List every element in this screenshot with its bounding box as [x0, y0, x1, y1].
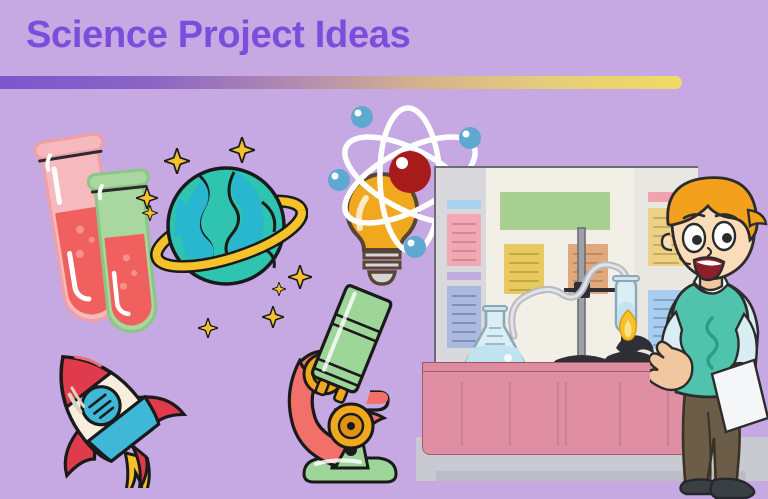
page-title: Science Project Ideas	[26, 14, 410, 57]
rocket-icon	[18, 336, 194, 488]
microscope-icon	[272, 278, 428, 499]
accent-gradient-bar	[0, 76, 682, 89]
sparkle-icon	[229, 137, 255, 163]
sparkle-icon	[164, 148, 190, 174]
poster-canvas: Science Project Ideas	[0, 0, 768, 499]
student-boy	[650, 172, 768, 499]
sparkle-icon	[142, 205, 158, 221]
lab-apparatus	[456, 224, 676, 376]
card-blue-bar-left	[447, 200, 481, 209]
sparkle-icon	[198, 318, 218, 338]
